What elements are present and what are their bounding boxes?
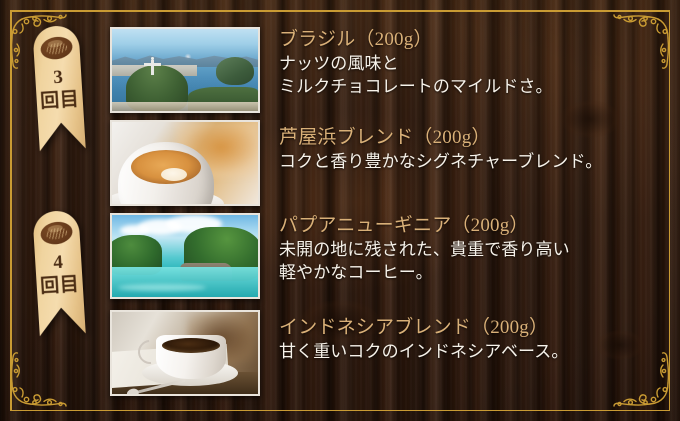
frame-line-bottom (10, 410, 670, 412)
photo-black-coffee (110, 310, 260, 396)
product-entry-papua-new-guinea: パプアニューギニア（200g） 未開の地に残された、貴重で香り高い 軽やかなコー… (279, 214, 570, 284)
product-desc-papua-line-2: 軽やかなコーヒー。 (279, 261, 570, 284)
ribbon-label-4: 4 回目 (35, 250, 84, 299)
ribbon-number-3: 3 (35, 65, 82, 91)
coffee-cup (156, 335, 226, 379)
product-title-indonesia: インドネシアブレンド（200g） (279, 316, 569, 340)
photo-rio-de-janeiro (110, 27, 260, 113)
rio-sugarloaf-mountain (216, 57, 254, 85)
product-entry-indonesia: インドネシアブレンド（200g） 甘く重いコクのインドネシアベース。 (279, 316, 569, 363)
frame-line-top (10, 10, 670, 12)
product-entry-brazil: ブラジル（200g） ナッツの風味と ミルクチョコレートのマイルドさ。 (279, 28, 553, 98)
ribbon-number-4: 4 (35, 250, 82, 276)
cappuccino-crema (131, 150, 201, 184)
turquoise-water (112, 267, 258, 297)
product-desc-brazil-line-2: ミルクチョコレートのマイルドさ。 (279, 75, 553, 98)
corner-ornament-top-right (604, 4, 676, 76)
product-title-brazil: ブラジル（200g） (279, 28, 553, 52)
product-entry-ashiyahama: 芦屋浜ブレンド（200g） コクと香り豊かなシグネチャーブレンド。 (279, 126, 602, 173)
product-desc-indonesia-line-1: 甘く重いコクのインドネシアベース。 (279, 340, 569, 363)
rio-shoreline (112, 102, 258, 111)
product-desc-papua-line-1: 未開の地に残された、貴重で香り高い (279, 238, 570, 261)
coffee-subscription-panel: 3 回目 4 回目 (0, 0, 680, 421)
corner-ornament-bottom-left (4, 345, 76, 417)
christ-the-redeemer-statue (151, 60, 154, 75)
water-highlight (118, 284, 206, 291)
product-title-ashiyahama: 芦屋浜ブレンド（200g） (279, 126, 602, 150)
corner-ornament-bottom-right (604, 345, 676, 417)
product-desc-ashiyahama-line-1: コクと香り豊かなシグネチャーブレンド。 (279, 150, 602, 173)
cappuccino-latte-art (161, 168, 187, 181)
product-title-papua-new-guinea: パプアニューギニア（200g） (279, 214, 570, 238)
delivery-round-badge-4: 4 回目 (32, 210, 85, 337)
black-coffee-surface (162, 338, 220, 353)
delivery-round-badge-3: 3 回目 (32, 25, 85, 152)
photo-cappuccino (110, 120, 260, 206)
product-desc-brazil-line-1: ナッツの風味と (279, 52, 553, 75)
ribbon-unit-3: 回目 (36, 88, 83, 114)
ribbon-label-3: 3 回目 (35, 65, 84, 114)
ribbon-unit-4: 回目 (36, 273, 83, 299)
photo-papua-lagoon (110, 213, 260, 299)
